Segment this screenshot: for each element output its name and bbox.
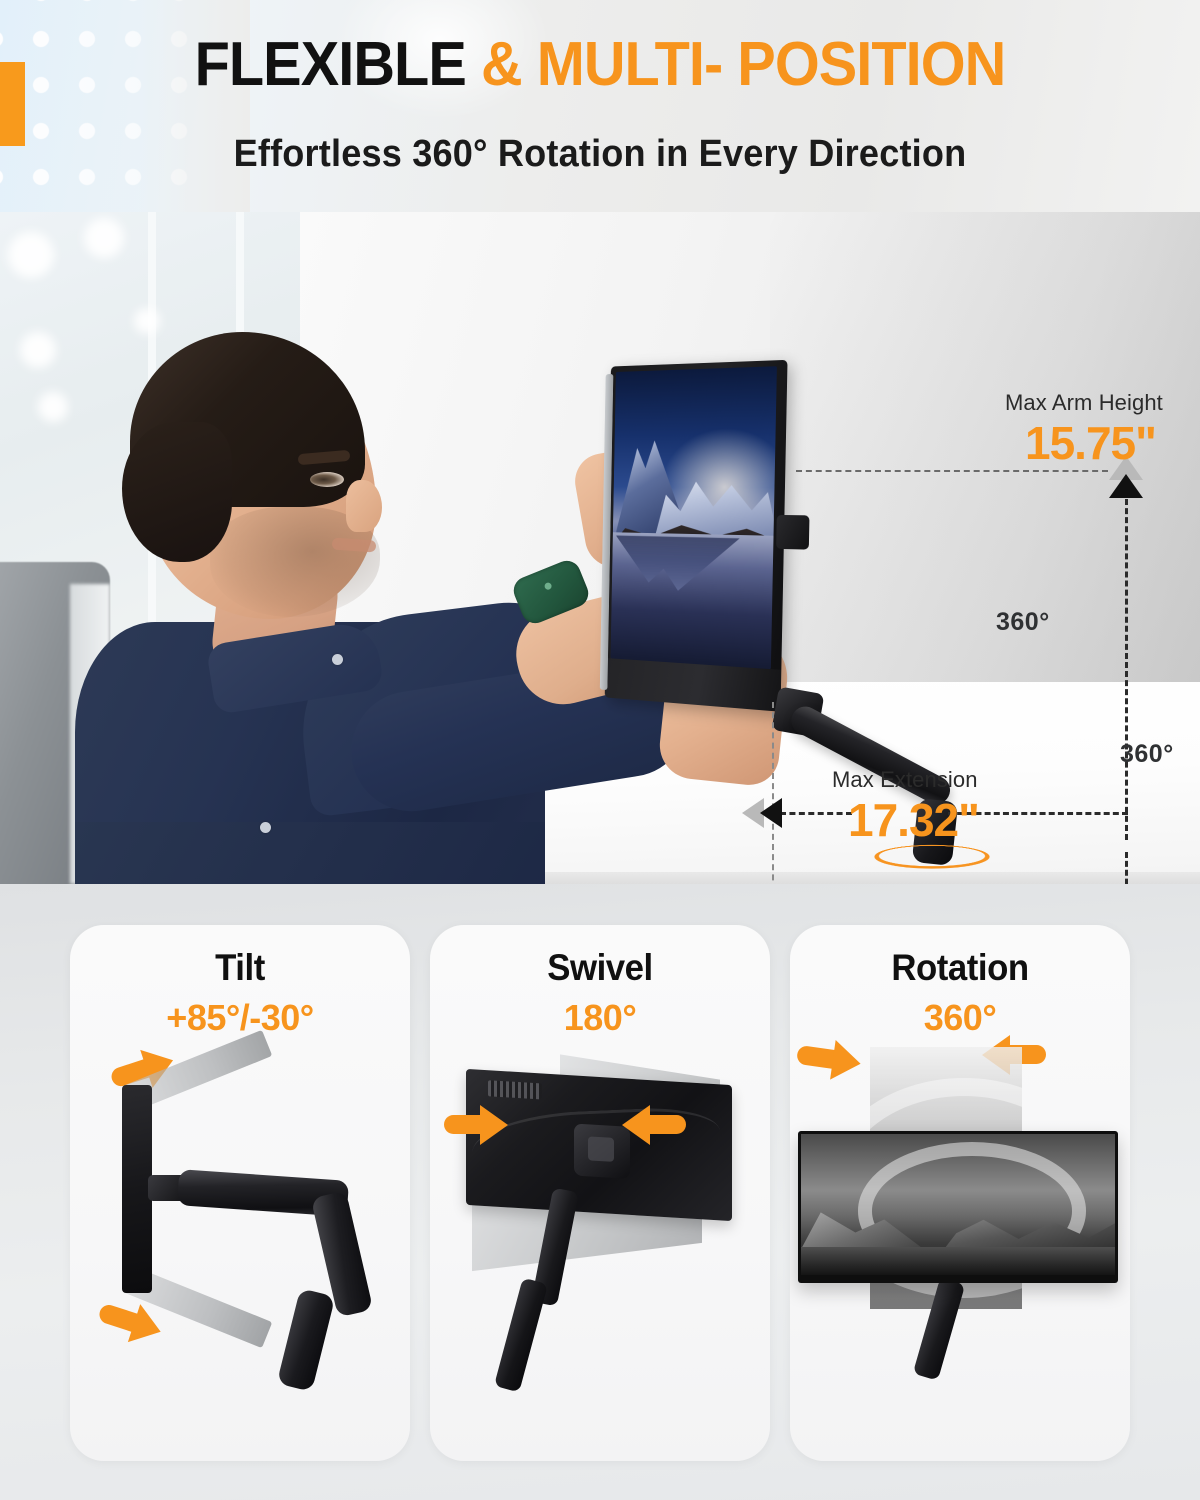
bokeh-light xyxy=(20,332,56,368)
height-guide-vertical-line-lower xyxy=(1125,852,1128,884)
header-banner: FLEXIBLE & MULTI- POSITION Effortless 36… xyxy=(0,0,1200,212)
page-subheadline: Effortless 360° Rotation in Every Direct… xyxy=(30,135,1170,173)
card-value-tilt: +85°/-30° xyxy=(70,997,410,1039)
monitor-portrait xyxy=(605,360,788,712)
height-guide-top-line xyxy=(796,470,1108,472)
person-hair-side xyxy=(122,422,232,562)
vesa-mount-plate xyxy=(776,515,809,550)
extension-guide-vertical-line xyxy=(772,702,774,884)
person-eye xyxy=(310,472,344,487)
tilt-arm-base xyxy=(277,1288,336,1392)
rotation-landscape-monitor xyxy=(798,1131,1118,1283)
max-arm-height-value: 15.75" xyxy=(1025,416,1156,470)
chevron-left-icon xyxy=(760,798,782,828)
monitor-screen xyxy=(611,366,777,669)
shirt-button xyxy=(332,654,343,665)
shirt-button xyxy=(260,822,271,833)
bokeh-light xyxy=(84,218,124,258)
headline-black-text: FLEXIBLE xyxy=(195,30,481,99)
orange-accent-bar xyxy=(0,62,25,146)
max-arm-height-label: Max Arm Height xyxy=(1005,390,1163,416)
swivel-arm-lower xyxy=(494,1278,548,1393)
headline-orange-text: & MULTI- POSITION xyxy=(481,30,1005,99)
rotation-screen-art xyxy=(801,1134,1115,1275)
person-nose xyxy=(346,480,382,532)
hero-lifestyle-photo: Max Arm Height 15.75" Max Extension 17.3… xyxy=(0,212,1200,884)
feature-card-rotation[interactable]: Rotation 360° xyxy=(790,925,1130,1461)
feature-cards-row: Tilt +85°/-30° xyxy=(70,925,1130,1461)
card-value-rotation: 360° xyxy=(790,997,1130,1039)
product-feature-page: FLEXIBLE & MULTI- POSITION Effortless 36… xyxy=(0,0,1200,1500)
extension-guide-left-line xyxy=(780,812,852,815)
tilt-illustration xyxy=(70,1043,410,1461)
swivel-illustration xyxy=(430,1043,770,1461)
card-title-swivel: Swivel xyxy=(440,947,760,989)
chevron-up-icon xyxy=(1109,474,1143,498)
feature-cards-section: Tilt +85°/-30° xyxy=(0,884,1200,1500)
swivel-monitor-back xyxy=(466,1069,732,1221)
feature-card-swivel[interactable]: Swivel 180° xyxy=(430,925,770,1461)
card-title-tilt: Tilt xyxy=(80,947,400,989)
screen-foreground-lake xyxy=(801,1247,1115,1275)
monitor-vent xyxy=(488,1080,542,1099)
card-value-swivel: 180° xyxy=(430,997,770,1039)
bokeh-light xyxy=(8,232,54,278)
feature-card-tilt[interactable]: Tilt +85°/-30° xyxy=(70,925,410,1461)
person-torso-lower xyxy=(75,822,545,884)
height-guide-vertical-line xyxy=(1125,490,1128,840)
card-title-rotation: Rotation xyxy=(800,947,1120,989)
max-extension-value: 17.32" xyxy=(848,793,979,847)
page-headline: FLEXIBLE & MULTI- POSITION xyxy=(42,34,1158,96)
max-extension-label: Max Extension xyxy=(832,767,978,793)
rotation-illustration xyxy=(790,1043,1130,1461)
base-rotation-degrees: 360° xyxy=(1120,740,1174,769)
joint-rotation-degrees: 360° xyxy=(996,608,1050,637)
